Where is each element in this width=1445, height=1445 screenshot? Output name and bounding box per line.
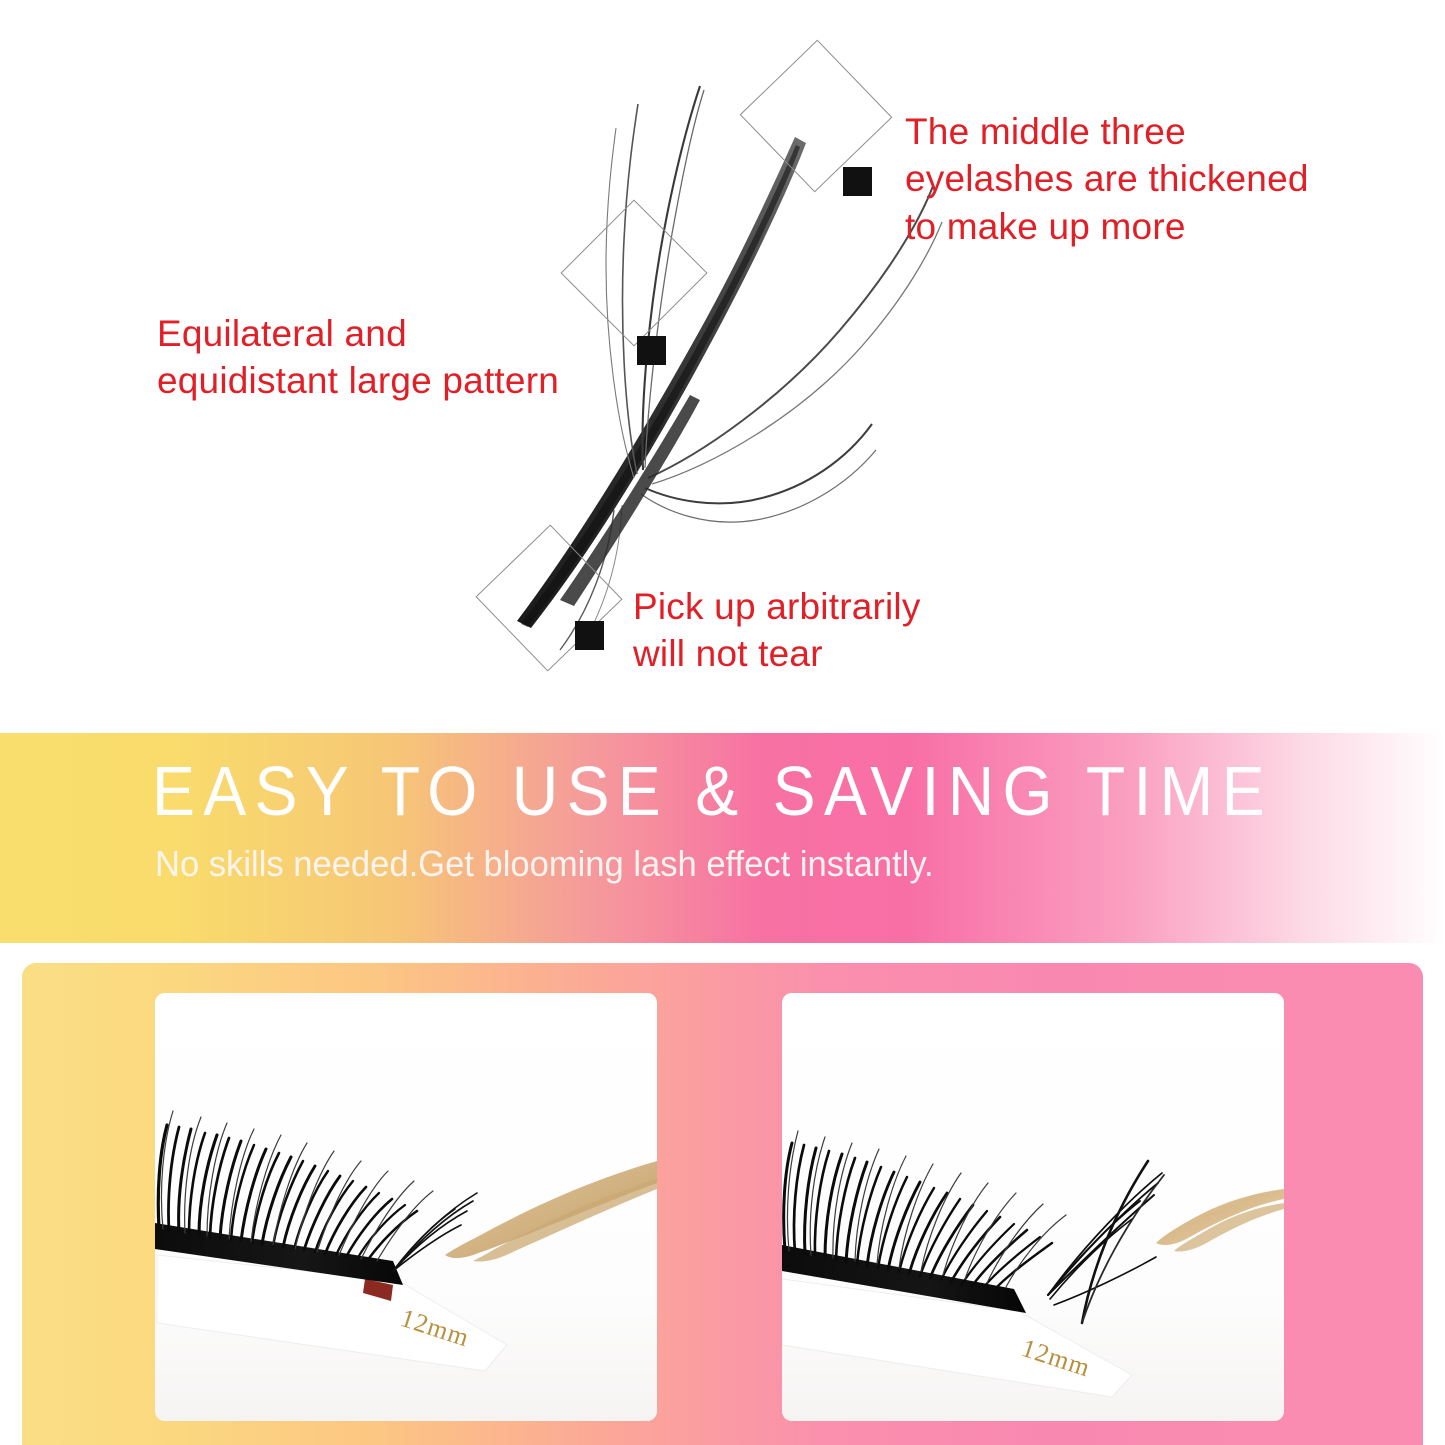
photo-lash-tray-fan: 12mm xyxy=(782,993,1284,1421)
feature-diagram-section: The middle three eyelashes are thickened… xyxy=(0,0,1445,733)
photo-panel-section: 12mm xyxy=(22,963,1423,1445)
callout-marker-no-tear xyxy=(575,621,604,650)
photo-lash-tray-tweezers: 12mm xyxy=(155,993,657,1421)
banner-subtitle: No skills needed.Get blooming lash effec… xyxy=(155,843,934,885)
callout-marker-thickened xyxy=(843,167,872,196)
callout-text-thickened: The middle three eyelashes are thickened… xyxy=(905,108,1375,250)
callout-text-no-tear: Pick up arbitrarily will not tear xyxy=(633,583,1053,678)
callout-text-equilateral: Equilateral and equidistant large patter… xyxy=(157,310,627,405)
callout-marker-equilateral xyxy=(637,336,666,365)
banner-section: EASY TO USE & SAVING TIME No skills need… xyxy=(0,733,1445,943)
banner-headline: EASY TO USE & SAVING TIME xyxy=(152,751,1273,831)
product-infographic-page: The middle three eyelashes are thickened… xyxy=(0,0,1445,1445)
